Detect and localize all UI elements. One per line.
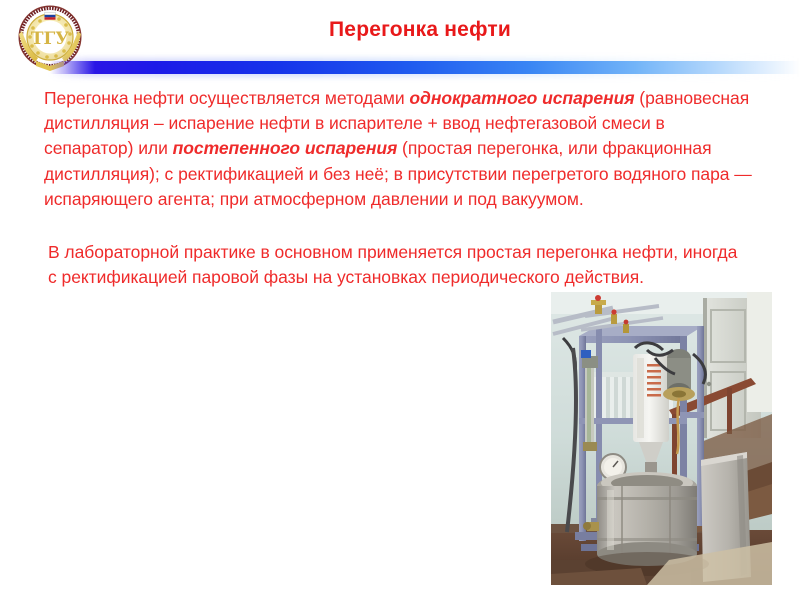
emphasis-run: постепенного испарения bbox=[173, 138, 398, 158]
slide-canvas: ТГУ Перегонка нефти Перегонка нефти осущ… bbox=[0, 0, 800, 600]
header-accent-bar bbox=[0, 58, 800, 78]
text-run: Перегонка нефти осуществляется методами bbox=[44, 88, 409, 108]
distillation-tank bbox=[583, 472, 697, 566]
svg-text:ТГУ: ТГУ bbox=[31, 29, 69, 49]
text-run: В лабораторной практике в основном приме… bbox=[48, 242, 737, 287]
accent-bar-core bbox=[50, 61, 800, 74]
body-paragraph-1: Перегонка нефти осуществляется методами … bbox=[44, 86, 756, 212]
lab-apparatus-illustration bbox=[551, 292, 772, 585]
body-paragraph-2: В лабораторной практике в основном приме… bbox=[48, 240, 748, 290]
emphasis-run: однократного испарения bbox=[409, 88, 634, 108]
russian-flag-icon bbox=[45, 13, 56, 20]
page-title: Перегонка нефти bbox=[120, 18, 720, 41]
laboratory-distillation-unit-photo bbox=[551, 292, 772, 585]
